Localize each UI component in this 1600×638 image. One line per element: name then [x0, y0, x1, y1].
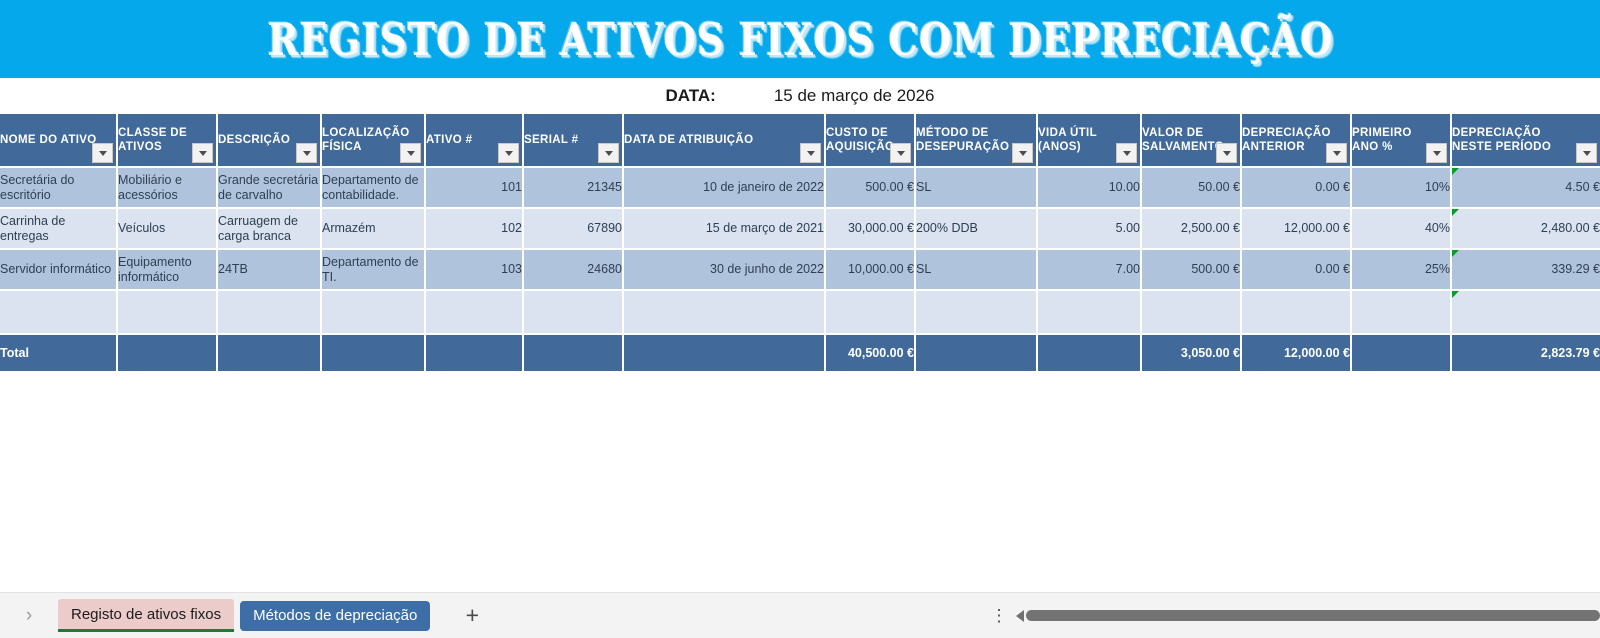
scrollbar-thumb[interactable]	[1026, 610, 1600, 621]
total-custo: 40,500.00 €	[826, 335, 916, 371]
cell-data[interactable]: 30 de junho de 2022	[624, 250, 826, 291]
column-header-depreciacao-neste-periodo[interactable]: Depreciação neste período	[1452, 114, 1600, 168]
cell-ativo-num[interactable]: 102	[426, 209, 524, 250]
column-header-nome-do-ativo[interactable]: Nome do ativo	[0, 114, 118, 168]
cell-nome[interactable]: Servidor informático	[0, 250, 118, 291]
filter-dropdown-icon[interactable]	[800, 143, 821, 163]
cell-primeiro-ano[interactable]	[1352, 291, 1452, 335]
cell-primeiro-ano[interactable]: 25%	[1352, 250, 1452, 291]
filter-dropdown-icon[interactable]	[400, 143, 421, 163]
cell-metodo[interactable]: SL	[916, 250, 1038, 291]
cell-periodo[interactable]	[1452, 291, 1600, 335]
error-indicator-icon	[1452, 250, 1459, 257]
column-header-descricao[interactable]: Descrição	[218, 114, 322, 168]
total-metodo-empty	[916, 335, 1038, 371]
filter-dropdown-icon[interactable]	[1116, 143, 1137, 163]
sheet-tab-bar: › Registo de ativos fixos Métodos de dep…	[0, 592, 1600, 638]
filter-dropdown-icon[interactable]	[498, 143, 519, 163]
cell-ativo-num[interactable]: 101	[426, 168, 524, 209]
column-header-classe-de-ativos[interactable]: Classe de ativos	[118, 114, 218, 168]
cell-serial-num[interactable]: 21345	[524, 168, 624, 209]
column-header-depreciacao-anterior[interactable]: Depreciação anterior	[1242, 114, 1352, 168]
cell-serial-num[interactable]: 24680	[524, 250, 624, 291]
cell-vida[interactable]: 5.00	[1038, 209, 1142, 250]
total-classe-empty	[118, 335, 218, 371]
cell-nome[interactable]	[0, 291, 118, 335]
cell-descricao[interactable]: Carruagem de carga branca	[218, 209, 322, 250]
cell-anterior[interactable]: 0.00 €	[1242, 168, 1352, 209]
sheet-tab-registo-de-ativos-fixos[interactable]: Registo de ativos fixos	[58, 599, 234, 632]
cell-periodo[interactable]: 2,480.00 €	[1452, 209, 1600, 250]
cell-anterior[interactable]	[1242, 291, 1352, 335]
table-row[interactable]: Servidor informático Equipamento informá…	[0, 250, 1600, 291]
total-serial-empty	[524, 335, 624, 371]
cell-periodo-value: 339.29 €	[1551, 262, 1600, 276]
more-options-kebab-icon[interactable]: ⋮	[982, 593, 1016, 638]
error-indicator-icon	[1452, 209, 1459, 216]
filter-dropdown-icon[interactable]	[1216, 143, 1237, 163]
column-header-serial-num[interactable]: Serial #	[524, 114, 624, 168]
date-label: DATA:	[665, 86, 715, 106]
cell-localizacao[interactable]: Armazém	[322, 209, 426, 250]
cell-custo[interactable]: 500.00 €	[826, 168, 916, 209]
asset-table-body: Secretária do escritório Mobiliário e ac…	[0, 168, 1600, 371]
column-header-ativo-num[interactable]: Ativo #	[426, 114, 524, 168]
error-indicator-icon	[1452, 168, 1459, 175]
column-header-valor-de-salvamento[interactable]: Valor de salvamento	[1142, 114, 1242, 168]
cell-custo[interactable]: 30,000.00 €	[826, 209, 916, 250]
filter-dropdown-icon[interactable]	[296, 143, 317, 163]
date-value[interactable]: 15 de março de 2026	[774, 86, 935, 106]
cell-anterior[interactable]: 0.00 €	[1242, 250, 1352, 291]
cell-vida[interactable]: 10.00	[1038, 168, 1142, 209]
cell-classe[interactable]: Equipamento informático	[118, 250, 218, 291]
title-banner: Registo de ativos fixos com depreciação	[0, 0, 1600, 78]
asset-table: Nome do ativo Classe de ativos Descrição…	[0, 114, 1600, 371]
column-header-vida-util-anos[interactable]: Vida útil (anos)	[1038, 114, 1142, 168]
cell-classe[interactable]: Mobiliário e acessórios	[118, 168, 218, 209]
error-indicator-icon	[1452, 291, 1459, 298]
table-row[interactable]	[0, 291, 1600, 335]
column-header-custo-de-aquisicao[interactable]: Custo de aquisição	[826, 114, 916, 168]
scroll-left-arrow-icon[interactable]	[1016, 610, 1024, 622]
cell-classe[interactable]: Veículos	[118, 209, 218, 250]
spreadsheet-app: Registo de ativos fixos com depreciação …	[0, 0, 1600, 638]
column-header-localizacao-fisica[interactable]: Localização física	[322, 114, 426, 168]
cell-descricao[interactable]: 24TB	[218, 250, 322, 291]
sheet-tab-metodos-de-depreciacao[interactable]: Métodos de depreciação	[240, 601, 430, 631]
cell-data[interactable]	[624, 291, 826, 335]
cell-metodo[interactable]	[916, 291, 1038, 335]
total-descricao-empty	[218, 335, 322, 371]
cell-vida[interactable]	[1038, 291, 1142, 335]
filter-dropdown-icon[interactable]	[1012, 143, 1033, 163]
cell-custo[interactable]	[826, 291, 916, 335]
total-data-empty	[624, 335, 826, 371]
cell-primeiro-ano[interactable]: 40%	[1352, 209, 1452, 250]
cell-vida[interactable]: 7.00	[1038, 250, 1142, 291]
cell-salvamento[interactable]: 500.00 €	[1142, 250, 1242, 291]
cell-localizacao[interactable]	[322, 291, 426, 335]
scrollbar-track[interactable]	[1026, 610, 1600, 621]
total-ativo-empty	[426, 335, 524, 371]
column-header-primeiro-ano-pct[interactable]: Primeiro ano %	[1352, 114, 1452, 168]
filter-dropdown-icon[interactable]	[1426, 143, 1447, 163]
tabbar-right-controls: ⋮	[982, 593, 1600, 638]
cell-metodo[interactable]: SL	[916, 168, 1038, 209]
table-row[interactable]: Carrinha de entregas Veículos Carruagem …	[0, 209, 1600, 250]
total-localizacao-empty	[322, 335, 426, 371]
column-header-data-de-atribuicao[interactable]: Data de atribuição	[624, 114, 826, 168]
table-header-row: Nome do ativo Classe de ativos Descrição…	[0, 114, 1600, 168]
date-row: DATA: 15 de março de 2026	[0, 78, 1600, 114]
filter-dropdown-icon[interactable]	[192, 143, 213, 163]
filter-dropdown-icon[interactable]	[598, 143, 619, 163]
asset-table-wrapper: Nome do ativo Classe de ativos Descrição…	[0, 114, 1600, 371]
horizontal-scrollbar[interactable]	[1016, 593, 1600, 638]
cell-periodo-value: 4.50 €	[1565, 180, 1600, 194]
cell-serial-num[interactable]: 67890	[524, 209, 624, 250]
cell-ativo-num[interactable]	[426, 291, 524, 335]
total-periodo: 2,823.79 €	[1452, 335, 1600, 371]
cell-data[interactable]: 15 de março de 2021	[624, 209, 826, 250]
total-label: Total	[0, 335, 118, 371]
table-row[interactable]: Secretária do escritório Mobiliário e ac…	[0, 168, 1600, 209]
cell-classe[interactable]	[118, 291, 218, 335]
cell-localizacao[interactable]: Departamento de contabilidade.	[322, 168, 426, 209]
column-header-label: Data de atribuição	[624, 133, 824, 147]
add-sheet-plus-icon[interactable]: +	[448, 593, 496, 638]
total-row: Total 40,500.00 € 3,050.00 € 12,000.00 €…	[0, 335, 1600, 371]
cell-anterior[interactable]: 12,000.00 €	[1242, 209, 1352, 250]
cell-data[interactable]: 10 de janeiro de 2022	[624, 168, 826, 209]
cell-salvamento[interactable]: 2,500.00 €	[1142, 209, 1242, 250]
cell-metodo[interactable]: 200% DDB	[916, 209, 1038, 250]
cell-periodo[interactable]: 4.50 €	[1452, 168, 1600, 209]
cell-descricao[interactable]: Grande secretária de carvalho	[218, 168, 322, 209]
cell-descricao[interactable]	[218, 291, 322, 335]
total-anterior: 12,000.00 €	[1242, 335, 1352, 371]
filter-dropdown-icon[interactable]	[92, 143, 113, 163]
total-vida-empty	[1038, 335, 1142, 371]
cell-salvamento[interactable]	[1142, 291, 1242, 335]
cell-periodo-value: 2,480.00 €	[1541, 221, 1600, 235]
page-title: Registo de ativos fixos com depreciação	[267, 13, 1333, 66]
cell-custo[interactable]: 10,000.00 €	[826, 250, 916, 291]
cell-salvamento[interactable]: 50.00 €	[1142, 168, 1242, 209]
cell-ativo-num[interactable]: 103	[426, 250, 524, 291]
total-salvamento: 3,050.00 €	[1142, 335, 1242, 371]
filter-dropdown-icon[interactable]	[890, 143, 911, 163]
column-header-metodo-de-desepuracao[interactable]: Método de desepuração	[916, 114, 1038, 168]
next-sheet-chevron-right-icon[interactable]: ›	[0, 593, 58, 638]
cell-nome[interactable]: Secretária do escritório	[0, 168, 118, 209]
cell-localizacao[interactable]: Departamento de TI.	[322, 250, 426, 291]
filter-dropdown-icon[interactable]	[1576, 143, 1597, 163]
cell-periodo[interactable]: 339.29 €	[1452, 250, 1600, 291]
filter-dropdown-icon[interactable]	[1326, 143, 1347, 163]
cell-nome[interactable]: Carrinha de entregas	[0, 209, 118, 250]
total-primeiro-empty	[1352, 335, 1452, 371]
cell-serial-num[interactable]	[524, 291, 624, 335]
cell-primeiro-ano[interactable]: 10%	[1352, 168, 1452, 209]
